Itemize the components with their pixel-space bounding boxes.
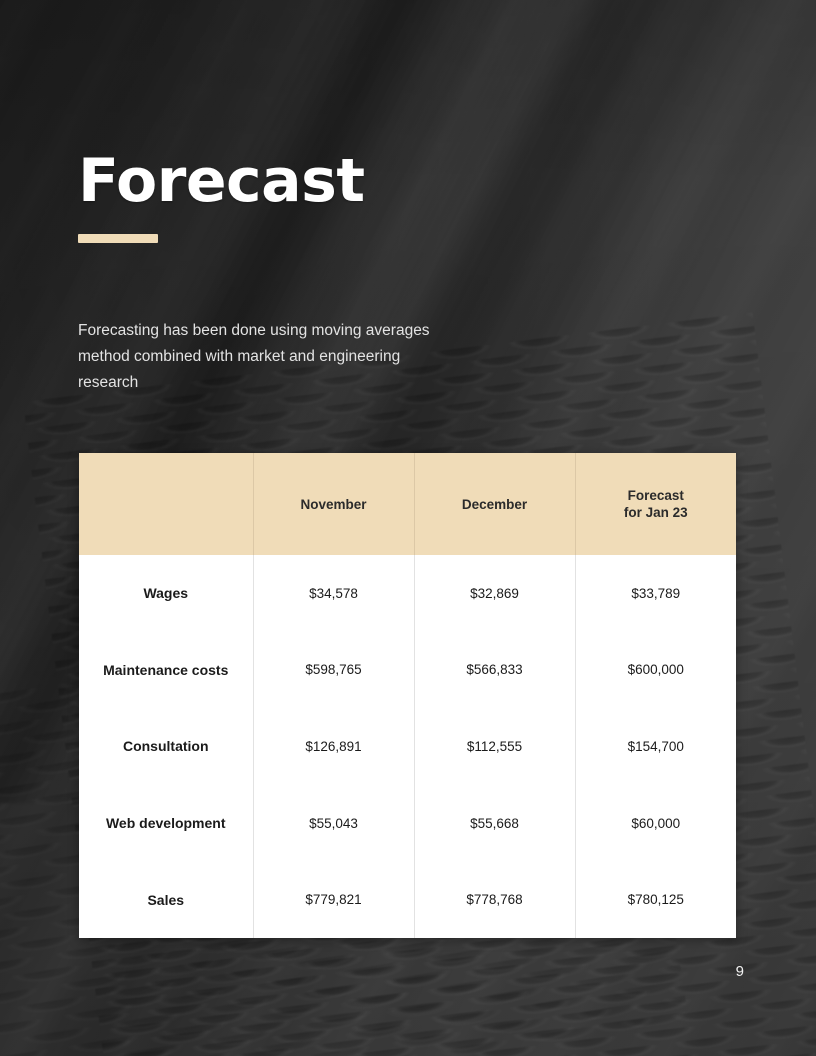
- cell-wages-november: $34,578: [253, 555, 414, 632]
- row-label-web-development: Web development: [79, 785, 253, 862]
- cell-consultation-november: $126,891: [253, 708, 414, 785]
- table-header-row: November December Forecast for Jan 23: [79, 453, 736, 555]
- cell-sales-december: $778,768: [414, 861, 575, 938]
- row-label-wages: Wages: [79, 555, 253, 632]
- table-row: Maintenance costs $598,765 $566,833 $600…: [79, 632, 736, 709]
- row-label-sales: Sales: [79, 861, 253, 938]
- table-header-forecast-line2: for Jan 23: [624, 505, 688, 520]
- table-header: November December Forecast for Jan 23: [79, 453, 736, 555]
- cell-web-development-december: $55,668: [414, 785, 575, 862]
- cell-sales-forecast: $780,125: [575, 861, 736, 938]
- cell-wages-forecast: $33,789: [575, 555, 736, 632]
- table-header-december: December: [414, 453, 575, 555]
- slide-content: Forecast Forecasting has been done using…: [0, 0, 816, 1056]
- slide: Forecast Forecasting has been done using…: [0, 0, 816, 1056]
- slide-subtitle: Forecasting has been done using moving a…: [78, 318, 448, 396]
- page-title: Forecast: [78, 150, 365, 213]
- table-header-forecast: Forecast for Jan 23: [575, 453, 736, 555]
- table-row: Consultation $126,891 $112,555 $154,700: [79, 708, 736, 785]
- cell-web-development-november: $55,043: [253, 785, 414, 862]
- forecast-table-element: November December Forecast for Jan 23 Wa…: [79, 453, 736, 938]
- table-header-forecast-line1: Forecast: [628, 488, 684, 503]
- cell-consultation-december: $112,555: [414, 708, 575, 785]
- cell-consultation-forecast: $154,700: [575, 708, 736, 785]
- page-number: 9: [736, 963, 744, 980]
- title-accent-rule: [78, 234, 158, 243]
- table-row: Web development $55,043 $55,668 $60,000: [79, 785, 736, 862]
- table-body: Wages $34,578 $32,869 $33,789 Maintenanc…: [79, 555, 736, 938]
- cell-sales-november: $779,821: [253, 861, 414, 938]
- table-header-corner: [79, 453, 253, 555]
- cell-maintenance-costs-december: $566,833: [414, 632, 575, 709]
- table-row: Sales $779,821 $778,768 $780,125: [79, 861, 736, 938]
- forecast-table: November December Forecast for Jan 23 Wa…: [79, 453, 736, 938]
- cell-maintenance-costs-november: $598,765: [253, 632, 414, 709]
- table-row: Wages $34,578 $32,869 $33,789: [79, 555, 736, 632]
- row-label-consultation: Consultation: [79, 708, 253, 785]
- table-header-november: November: [253, 453, 414, 555]
- cell-wages-december: $32,869: [414, 555, 575, 632]
- row-label-maintenance-costs: Maintenance costs: [79, 632, 253, 709]
- cell-maintenance-costs-forecast: $600,000: [575, 632, 736, 709]
- cell-web-development-forecast: $60,000: [575, 785, 736, 862]
